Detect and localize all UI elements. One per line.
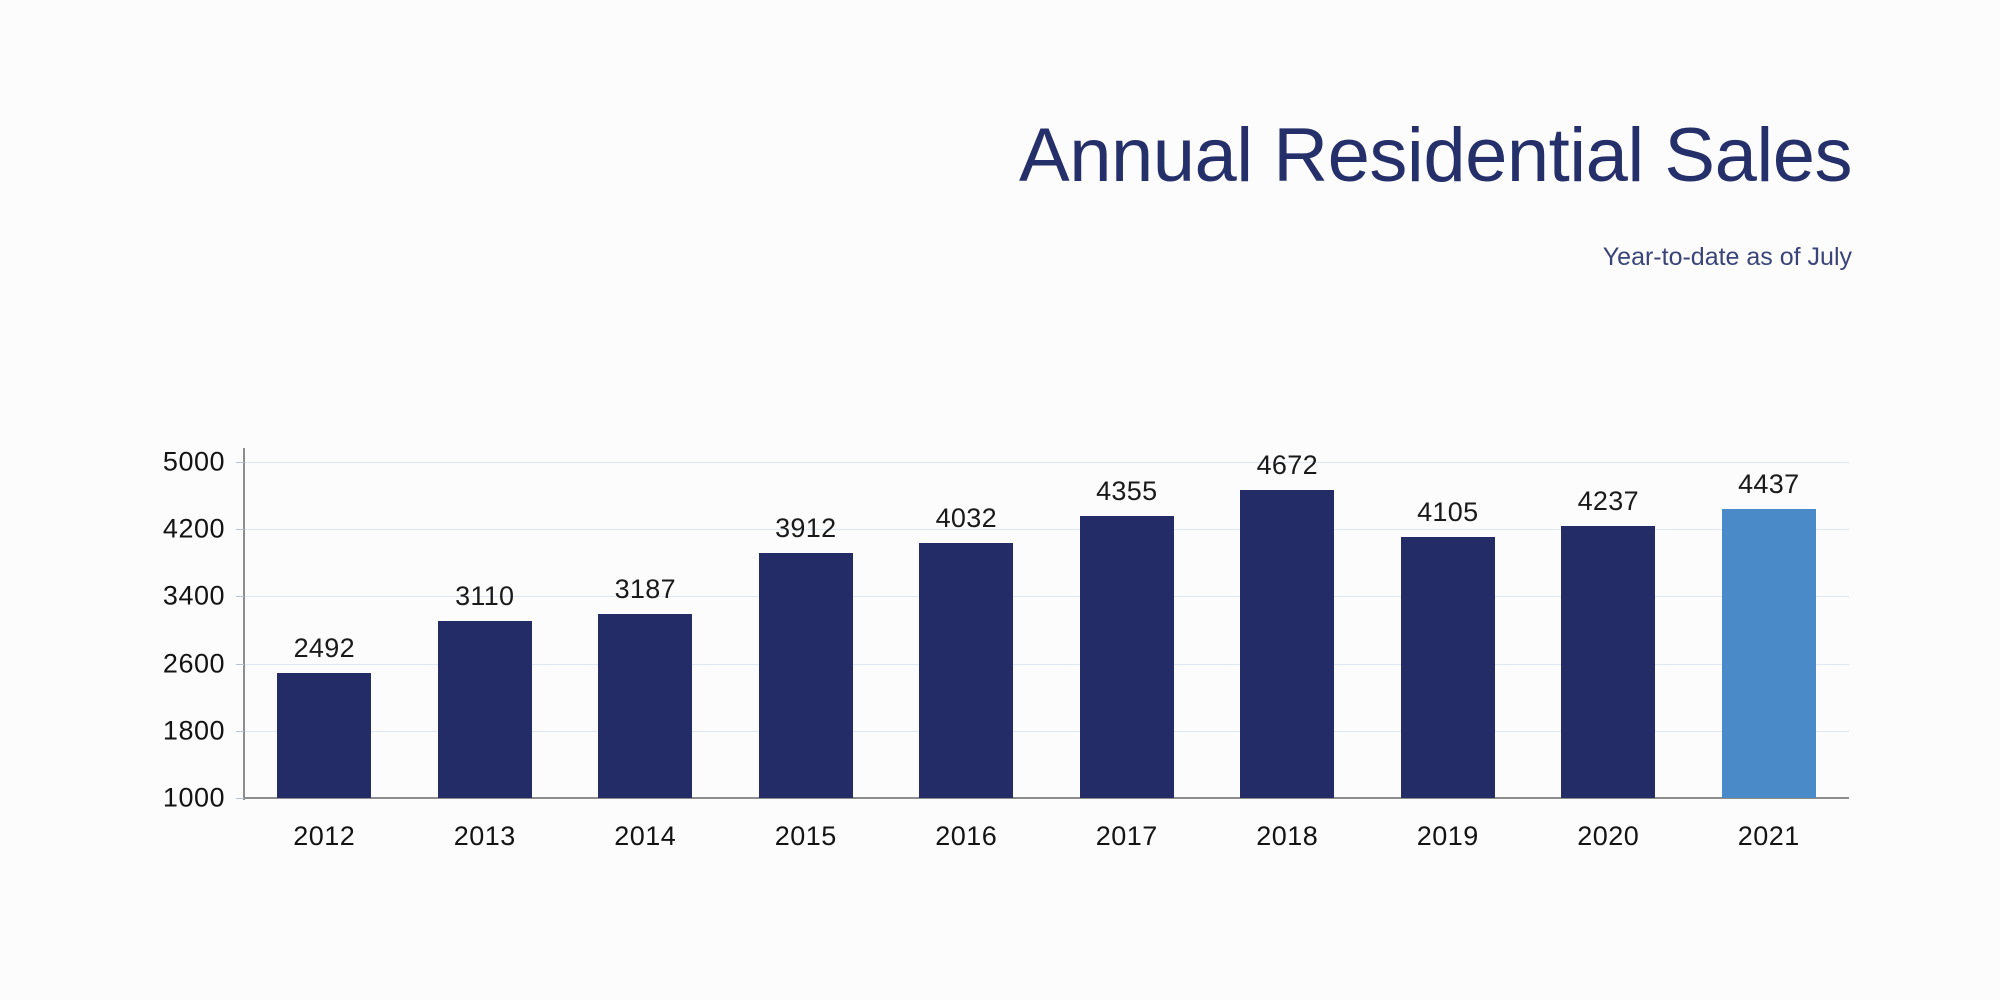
gridline	[245, 462, 1849, 463]
bar-chart: 100018002600340042005000 249220123110201…	[0, 0, 2000, 1000]
bar-2015[interactable]: 39122015	[759, 553, 853, 798]
bar-2021[interactable]: 44372021	[1722, 509, 1816, 798]
bar-value-label: 2492	[294, 633, 355, 664]
bar-2019[interactable]: 41052019	[1401, 537, 1495, 798]
bar-value-label: 4105	[1417, 497, 1478, 528]
bar-rect[interactable]	[277, 673, 371, 798]
bar-rect[interactable]	[919, 543, 1013, 798]
x-axis-tick-label: 2019	[1417, 821, 1479, 852]
bar-value-label: 4032	[936, 503, 997, 534]
x-axis-tick-label: 2013	[454, 821, 516, 852]
y-axis-tick-label: 1800	[65, 715, 225, 746]
bar-rect[interactable]	[1401, 537, 1495, 798]
y-axis-tick-label: 2600	[65, 648, 225, 679]
bar-rect[interactable]	[1561, 526, 1655, 798]
bar-rect[interactable]	[598, 614, 692, 798]
bar-2012[interactable]: 24922012	[277, 673, 371, 798]
y-axis-tick-mark	[236, 731, 244, 732]
bar-rect[interactable]	[1080, 516, 1174, 798]
bar-2014[interactable]: 31872014	[598, 614, 692, 798]
bar-2018[interactable]: 46722018	[1240, 490, 1334, 798]
x-axis-tick-label: 2018	[1256, 821, 1318, 852]
bar-2016[interactable]: 40322016	[919, 543, 1013, 798]
y-axis-tick-mark	[236, 798, 244, 799]
y-axis-tick-label: 3400	[65, 581, 225, 612]
bar-2017[interactable]: 43552017	[1080, 516, 1174, 798]
y-axis-tick-mark	[236, 664, 244, 665]
x-axis-tick-label: 2016	[935, 821, 997, 852]
y-axis-tick-label: 5000	[65, 447, 225, 478]
x-axis-tick-label: 2015	[775, 821, 837, 852]
bar-value-label: 3912	[775, 513, 836, 544]
bar-value-label: 4672	[1257, 450, 1318, 481]
x-axis-tick-label: 2020	[1577, 821, 1639, 852]
x-axis-tick-label: 2014	[614, 821, 676, 852]
x-axis-tick-label: 2017	[1096, 821, 1158, 852]
y-axis-line	[243, 448, 245, 800]
y-axis-tick-label: 4200	[65, 514, 225, 545]
bar-value-label: 3187	[615, 574, 676, 605]
x-axis-tick-label: 2012	[293, 821, 355, 852]
y-axis-tick-mark	[236, 529, 244, 530]
bar-value-label: 4237	[1578, 486, 1639, 517]
y-axis-tick-mark	[236, 462, 244, 463]
y-axis-tick-label: 1000	[65, 783, 225, 814]
x-axis-tick-label: 2021	[1738, 821, 1800, 852]
bar-value-label: 3110	[455, 581, 514, 612]
bar-value-label: 4437	[1738, 469, 1799, 500]
bar-rect[interactable]	[438, 621, 532, 798]
bar-2013[interactable]: 31102013	[438, 621, 532, 798]
bar-rect[interactable]	[759, 553, 853, 798]
y-axis-tick-mark	[236, 596, 244, 597]
bar-2020[interactable]: 42372020	[1561, 526, 1655, 798]
bar-rect[interactable]	[1240, 490, 1334, 798]
bar-value-label: 4355	[1096, 476, 1157, 507]
bar-rect[interactable]	[1722, 509, 1816, 798]
